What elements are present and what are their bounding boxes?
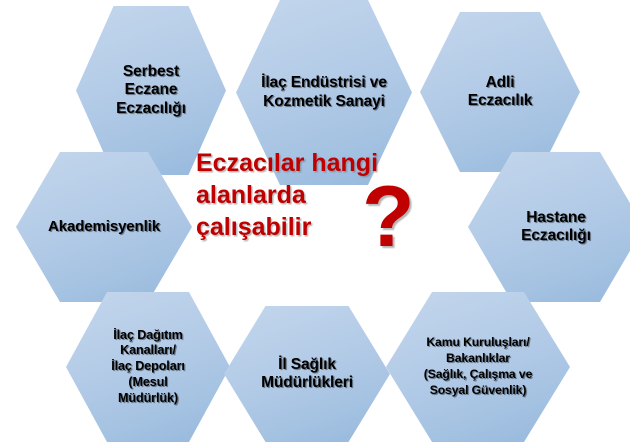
hexagon-label-kamu-kuruluslari-bakanliklar: Kamu Kuruluşları/ Bakanlıklar (Sağlık, Ç… xyxy=(422,335,535,398)
hexagon-hastane-eczaciligi[interactable]: Hastane Eczacılığı xyxy=(468,152,630,302)
hexagon-label-il-saglik-mudurlukleri: İl Sağlık Müdürlükleri xyxy=(259,356,355,392)
hexagon-label-ilac-dagitim-kanallari: İlaç Dağıtım Kanalları/ İlaç Depoları (M… xyxy=(109,328,187,407)
hexagon-il-saglik-mudurlukleri[interactable]: İl Sağlık Müdürlükleri xyxy=(224,306,390,442)
question-mark-glyph: ? xyxy=(362,174,415,260)
hexagon-ilac-dagitim-kanallari[interactable]: İlaç Dağıtım Kanalları/ İlaç Depoları (M… xyxy=(66,292,230,442)
hexagon-label-ilac-endustrisi-ve-kozmetik-sanayi: İlaç Endüstrisi ve Kozmetik Sanayi xyxy=(259,74,389,110)
diagram-canvas: Serbest Eczane Eczacılığı İlaç Endüstris… xyxy=(0,0,630,442)
hexagon-label-akademisyenlik: Akademisyenlik xyxy=(46,218,162,236)
hexagon-label-serbest-eczane-eczaciligi: Serbest Eczane Eczacılığı xyxy=(114,63,188,117)
hexagon-kamu-kuruluslari-bakanliklar[interactable]: Kamu Kuruluşları/ Bakanlıklar (Sağlık, Ç… xyxy=(386,292,570,442)
hexagon-label-adli-eczacilik: Adli Eczacılık xyxy=(466,74,535,110)
center-question-text: Eczacılar hangi alanlarda çalışabilir xyxy=(196,146,378,243)
hexagon-label-hastane-eczaciligi: Hastane Eczacılığı xyxy=(519,209,593,245)
